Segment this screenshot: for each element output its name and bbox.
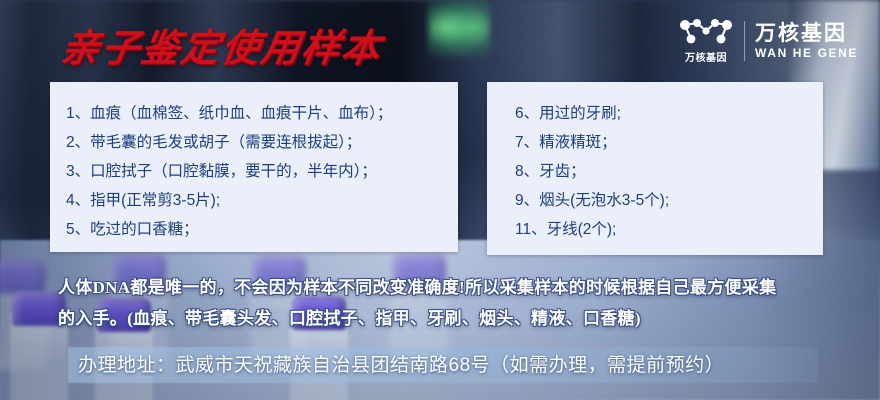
note-line-2: 的入手。(血痕、带毛囊头发、口腔拭子、指甲、牙刷、烟头、精液、口香糖) [58, 303, 828, 334]
list-item: 7、精液精斑； [515, 128, 823, 157]
sample-list-right: 6、用过的牙刷; 7、精液精斑； 8、牙齿； 9、烟头(无泡水3-5个); 11… [487, 82, 823, 244]
page-title: 亲子鉴定使用样本 [58, 17, 387, 72]
list-item: 11、牙线(2个); [515, 215, 823, 244]
list-item: 2、带毛囊的毛发或胡子（需要连根拔起）； [66, 128, 458, 157]
list-item: 5、吃过的口香糖； [66, 215, 458, 244]
brand-name-en: WAN HE GENE [755, 47, 858, 60]
sample-list-left: 1、血痕（血棉签、纸巾血、血痕干片、血布）； 2、带毛囊的毛发或胡子（需要连根拔… [50, 82, 458, 244]
poster-canvas: 亲子鉴定使用样本 [0, 0, 880, 400]
list-item: 9、烟头(无泡水3-5个); [515, 186, 823, 215]
brand-mark-label: 万核基因 [685, 49, 727, 64]
list-item: 1、血痕（血棉签、纸巾血、血痕干片、血布）； [66, 99, 458, 128]
brand-mark: 万核基因 [678, 18, 734, 64]
brand-divider [744, 21, 745, 61]
brand-text: 万核基因 WAN HE GENE [755, 22, 858, 60]
sample-list-panel-left: 1、血痕（血棉签、纸巾血、血痕干片、血布）； 2、带毛囊的毛发或胡子（需要连根拔… [50, 82, 458, 252]
note-line-1: 人体DNA都是唯一的，不会因为样本不同改变准确度!所以采集样本的时候根据自己最方… [58, 272, 828, 303]
address-text: 办理地址：武威市天祝藏族自治县团结南路68号（如需办理，需提前预约） [78, 350, 724, 377]
sample-list-panel-right: 6、用过的牙刷; 7、精液精斑； 8、牙齿； 9、烟头(无泡水3-5个); 11… [487, 82, 823, 255]
brand-name-cn: 万核基因 [755, 22, 858, 46]
note-paragraph: 人体DNA都是唯一的，不会因为样本不同改变准确度!所以采集样本的时候根据自己最方… [58, 272, 828, 334]
molecule-icon [678, 18, 734, 46]
list-item: 6、用过的牙刷; [515, 99, 823, 128]
brand-logo: 万核基因 万核基因 WAN HE GENE [678, 18, 858, 64]
list-item: 4、指甲(正常剪3-5片); [66, 186, 458, 215]
list-item: 8、牙齿； [515, 157, 823, 186]
background-green-indicator-lights [428, 0, 490, 60]
list-item: 3、口腔拭子（口腔黏膜，要干的，半年内）； [66, 157, 458, 186]
